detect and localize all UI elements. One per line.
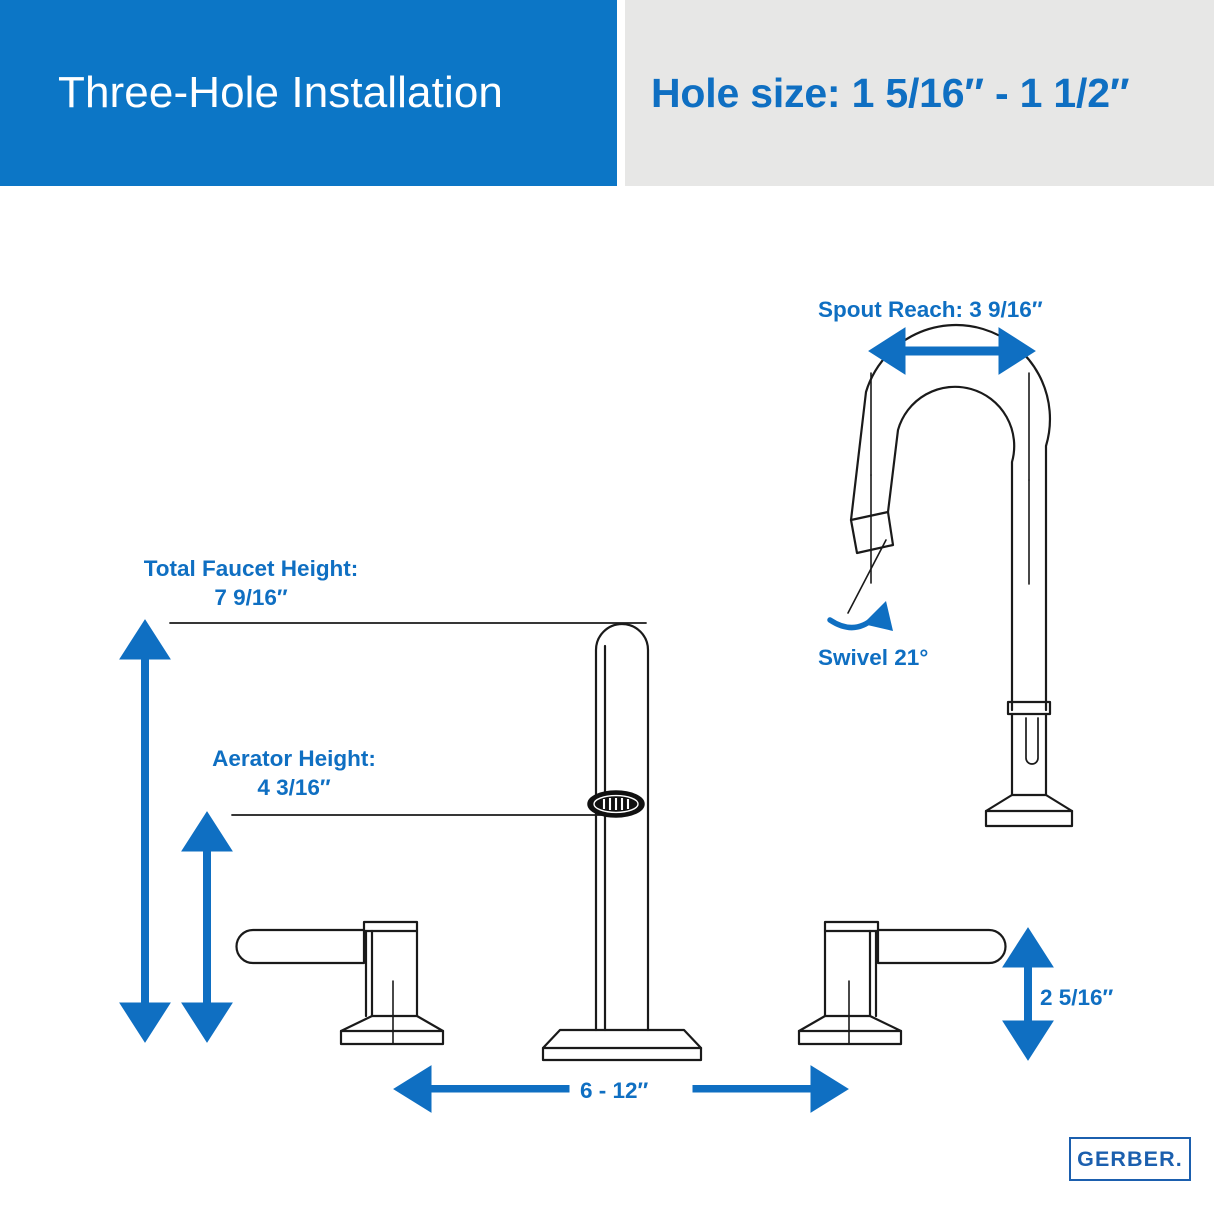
handle-height-value-label: 2 5/16″: [1040, 983, 1113, 1012]
total-faucet-height-label: Total Faucet Height:: [144, 556, 359, 581]
gerber-logo-text: GERBER.: [1077, 1147, 1183, 1172]
total-faucet-height-value: 7 9/16″: [214, 585, 287, 610]
aerator-height-value: 4 3/16″: [257, 775, 330, 800]
aerator-height-label: Aerator Height:: [212, 746, 376, 771]
swivel-label: Swivel 21°: [818, 643, 928, 672]
aerator-height-arrow: [182, 812, 232, 1042]
spread-value-label: 6 - 12″: [580, 1076, 648, 1105]
gerber-logo: GERBER.: [1069, 1137, 1191, 1181]
aerator-height-callout: Aerator Height: 4 3/16″: [190, 744, 398, 803]
spout-reach-label: Spout Reach: 3 9/16″: [818, 295, 1043, 324]
swivel-arrow: [830, 601, 893, 631]
spec-sheet: Three-Hole Installation Hole size: 1 5/1…: [0, 0, 1214, 1214]
total-faucet-height-arrow: [120, 620, 170, 1042]
spout-reach-arrow: [869, 328, 1035, 374]
total-faucet-height-callout: Total Faucet Height: 7 9/16″: [118, 554, 384, 613]
